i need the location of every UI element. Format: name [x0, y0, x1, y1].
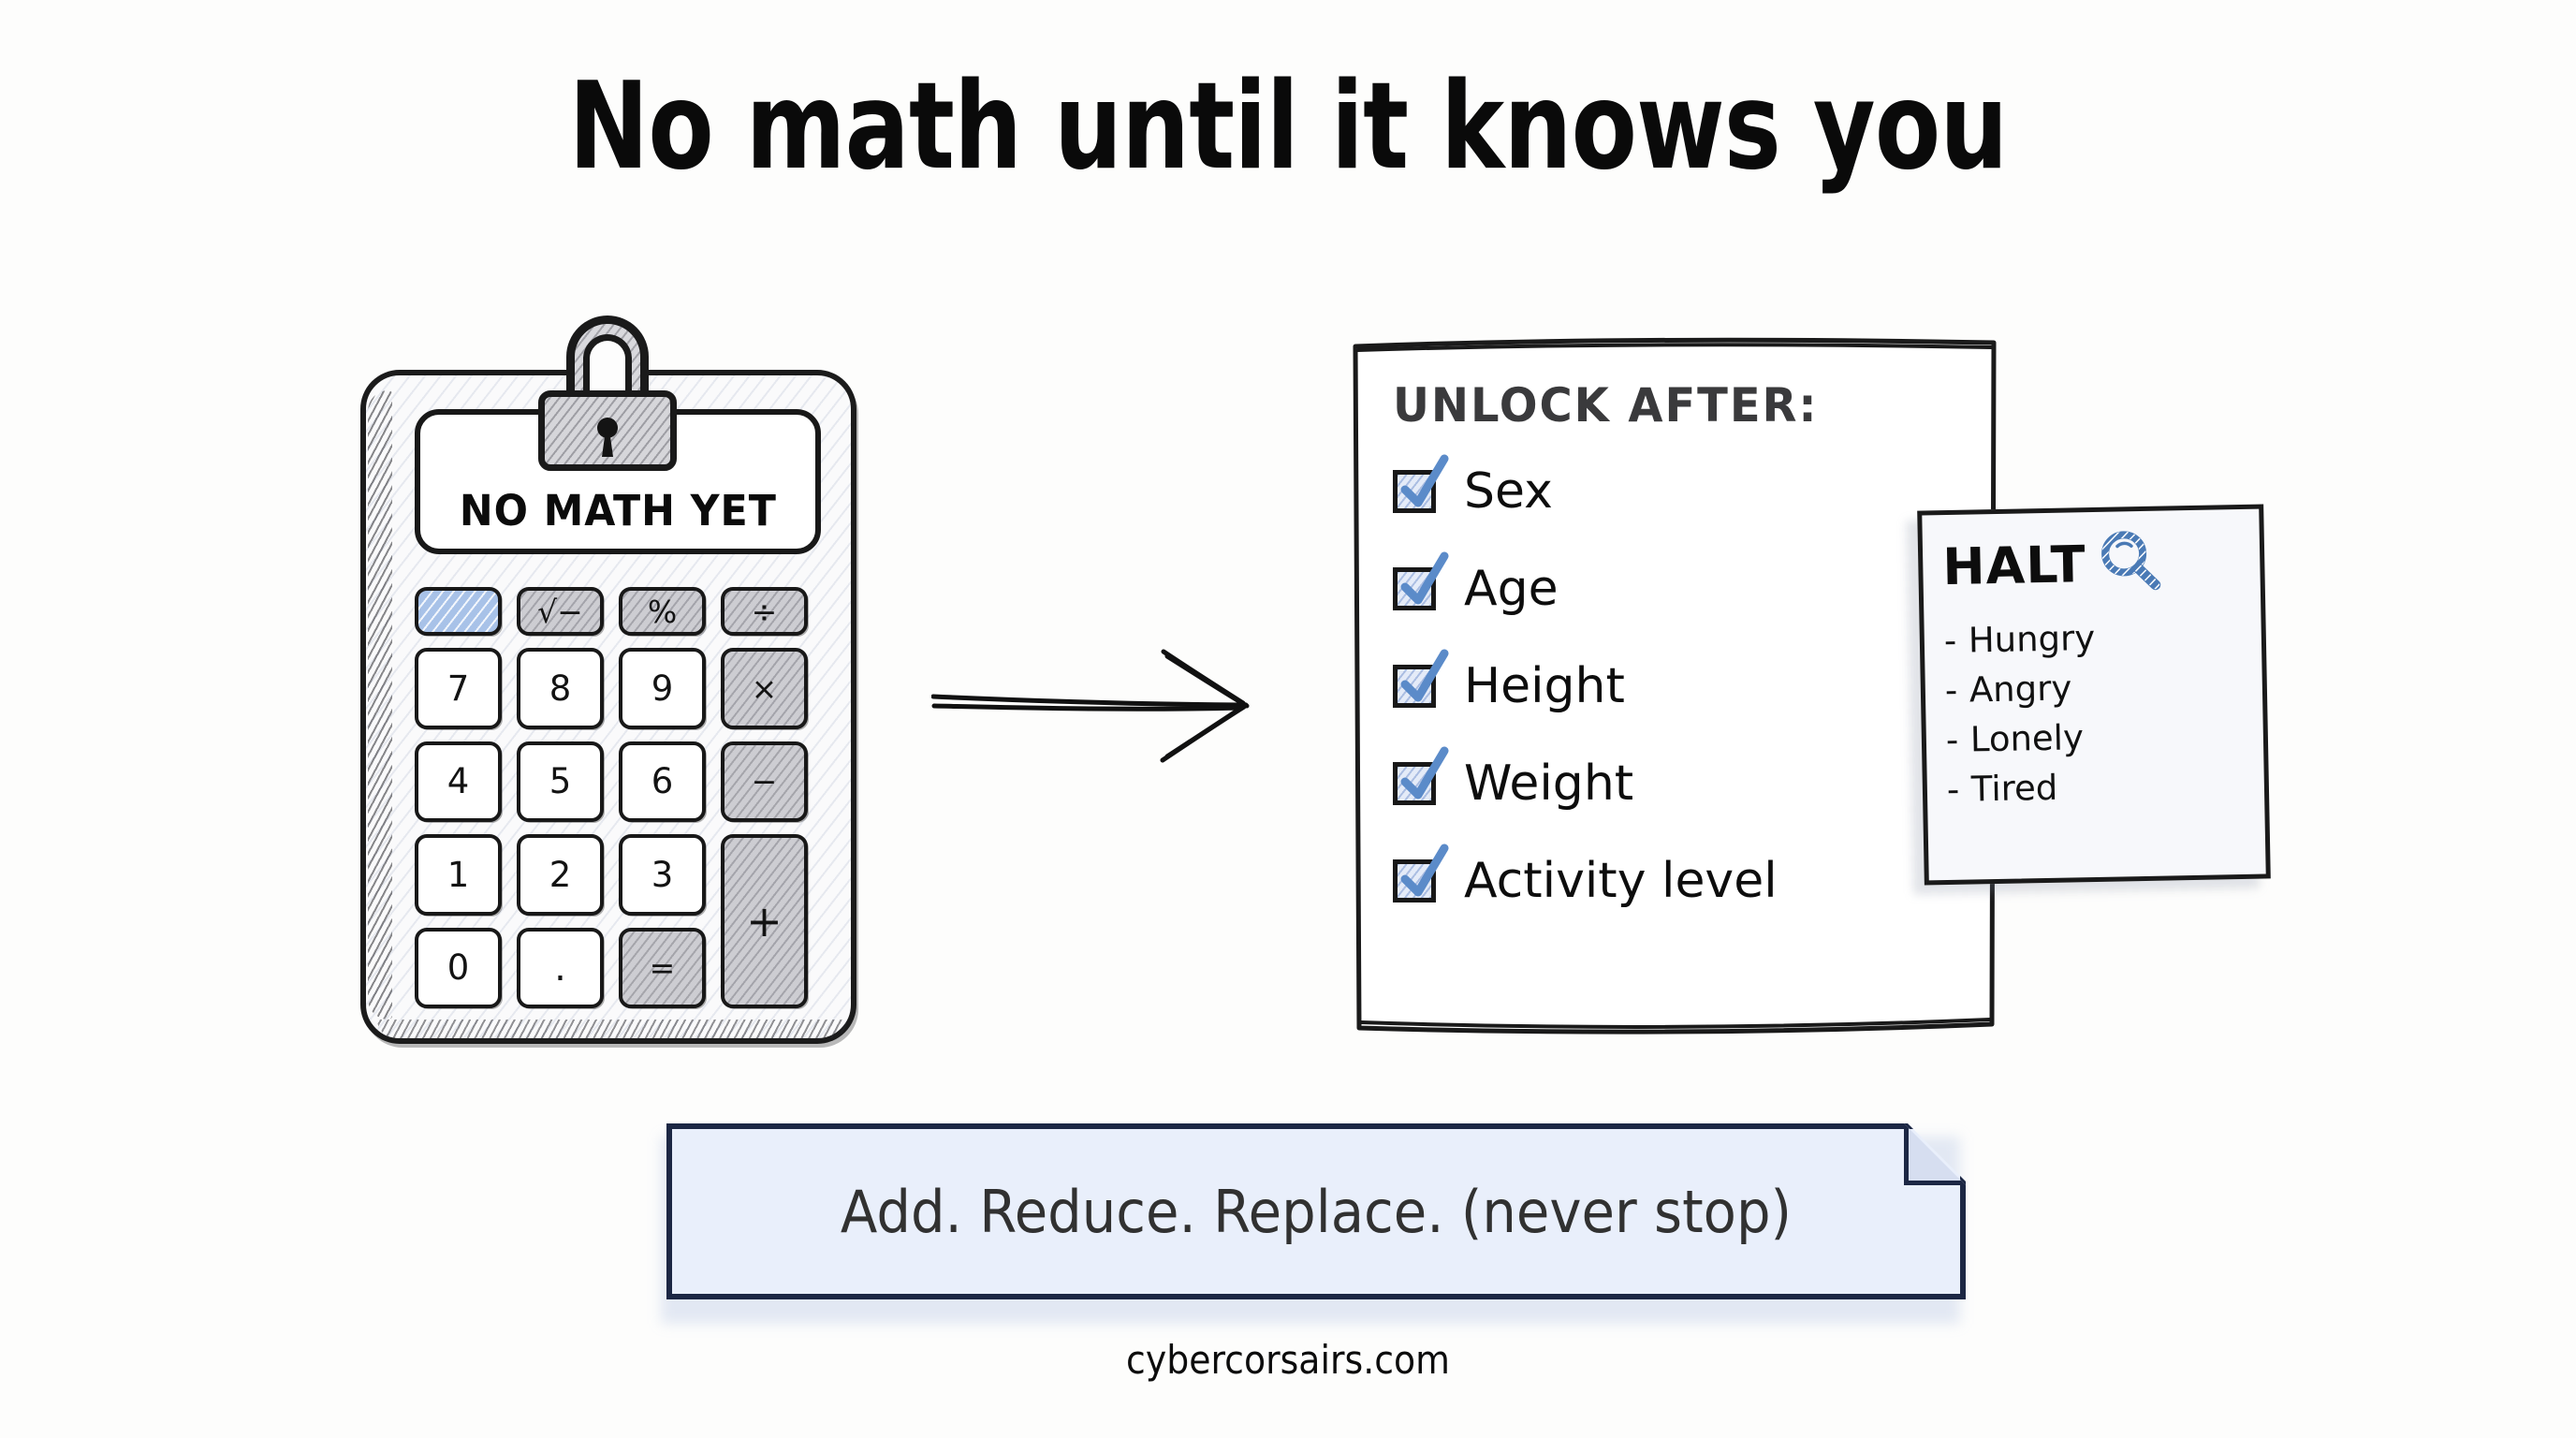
- calculator-display-text: NO MATH YET: [460, 486, 777, 536]
- halt-list-dash: -: [1947, 770, 1972, 808]
- halt-list-label: Lonely: [1969, 717, 2084, 759]
- padlock-body: [538, 390, 677, 471]
- key-equals[interactable]: =: [619, 928, 706, 1009]
- key-divide[interactable]: ÷: [721, 587, 808, 636]
- halt-list-item: -Hungry: [1943, 617, 2253, 660]
- checkbox[interactable]: [1393, 665, 1436, 708]
- check-icon: [1399, 844, 1450, 900]
- checkbox[interactable]: [1393, 762, 1436, 805]
- halt-note-card: HALT -Hungry-Angry-Lonely-Tired: [1917, 504, 2271, 885]
- checklist-item[interactable]: Activity level: [1393, 854, 1975, 908]
- calculator-left-edge: [368, 390, 392, 1020]
- key-multiply[interactable]: ×: [721, 648, 808, 729]
- checklist-item[interactable]: Age: [1393, 562, 1975, 616]
- bottom-banner: Add. Reduce. Replace. (never stop): [666, 1123, 1966, 1311]
- key-plus[interactable]: +: [721, 834, 808, 1008]
- check-icon: [1399, 551, 1450, 608]
- key-percent[interactable]: %: [619, 587, 706, 636]
- halt-list-item: -Lonely: [1946, 716, 2256, 759]
- halt-title: HALT: [1942, 539, 2086, 593]
- key-blank[interactable]: [415, 587, 502, 636]
- calculator-illustration: NO MATH YET √−%÷789×456−123+0.=: [360, 370, 856, 1044]
- key-0[interactable]: 0: [415, 928, 502, 1009]
- key-decimal[interactable]: .: [517, 928, 604, 1009]
- padlock-icon: [527, 315, 688, 454]
- unlock-checklist-panel: UNLOCK AFTER: SexAgeHeightWeightActivity…: [1348, 330, 2003, 1041]
- checklist-heading: UNLOCK AFTER:: [1393, 378, 1952, 433]
- checklist-item-label: Height: [1464, 662, 1625, 711]
- calculator-keypad: √−%÷789×456−123+0.=: [415, 587, 808, 1008]
- check-icon: [1399, 454, 1450, 510]
- checklist-item[interactable]: Height: [1393, 659, 1975, 713]
- check-icon: [1399, 746, 1450, 802]
- halt-list-dash: -: [1946, 721, 1971, 758]
- calculator-bottom-edge: [377, 1020, 847, 1038]
- halt-list-label: Hungry: [1968, 618, 2095, 661]
- key-8[interactable]: 8: [517, 648, 604, 729]
- halt-list-item: -Tired: [1947, 766, 2257, 809]
- padlock-keyhole: [597, 418, 618, 438]
- checklist-item[interactable]: Weight: [1393, 756, 1975, 811]
- checklist-item-label: Activity level: [1464, 857, 1778, 905]
- check-icon: [1399, 649, 1450, 705]
- halt-item-list: -Hungry-Angry-Lonely-Tired: [1943, 617, 2256, 809]
- checklist-item[interactable]: Sex: [1393, 464, 1975, 519]
- key-7[interactable]: 7: [415, 648, 502, 729]
- banner-text: Add. Reduce. Replace. (never stop): [712, 1123, 1921, 1299]
- checklist-items: SexAgeHeightWeightActivity level: [1393, 464, 1975, 908]
- checkbox[interactable]: [1393, 567, 1436, 610]
- halt-list-label: Angry: [1969, 668, 2071, 710]
- key-minus[interactable]: −: [721, 741, 808, 823]
- checklist-item-label: Sex: [1464, 467, 1553, 516]
- key-3[interactable]: 3: [619, 834, 706, 916]
- arrow-right-icon: [931, 646, 1287, 768]
- halt-list-dash: -: [1945, 672, 1970, 710]
- key-5[interactable]: 5: [517, 741, 604, 823]
- magnifying-glass-icon: [2095, 527, 2165, 601]
- checkbox[interactable]: [1393, 470, 1436, 513]
- key-1[interactable]: 1: [415, 834, 502, 916]
- halt-list-label: Tired: [1971, 768, 2058, 810]
- checkbox[interactable]: [1393, 859, 1436, 902]
- checklist-item-label: Weight: [1464, 759, 1633, 808]
- key-4[interactable]: 4: [415, 741, 502, 823]
- key-2[interactable]: 2: [517, 834, 604, 916]
- page-title: No math until it knows you: [257, 67, 2319, 187]
- checklist-item-label: Age: [1464, 565, 1559, 613]
- footer-site-url: cybercorsairs.com: [129, 1337, 2448, 1383]
- key-6[interactable]: 6: [619, 741, 706, 823]
- halt-list-dash: -: [1943, 623, 1969, 660]
- key-sqrt[interactable]: √−: [517, 587, 604, 636]
- key-9[interactable]: 9: [619, 648, 706, 729]
- halt-list-item: -Angry: [1945, 667, 2255, 710]
